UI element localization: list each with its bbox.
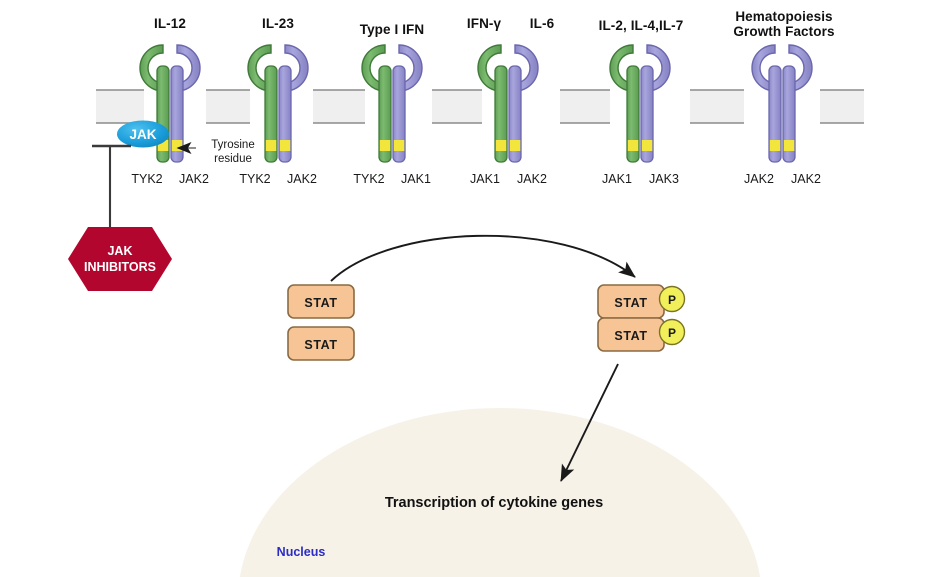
jak-inhibitors-label-line2: INHIBITORS xyxy=(84,260,156,274)
jak-inhibitors-node[interactable]: JAK INHIBITORS xyxy=(68,227,172,291)
stat-unphosphorylated-group: STAT STAT xyxy=(288,285,354,360)
tyrosine-residue xyxy=(172,140,183,151)
receptor-hematopoiesis-growth-factors xyxy=(752,45,812,162)
cytokine-label-hematopoiesis-line2: Growth Factors xyxy=(718,24,850,39)
jak-chain-label-type1ifn-right: JAK1 xyxy=(392,172,440,186)
jak-chain-label-hgf-right: JAK2 xyxy=(782,172,830,186)
membrane-segment xyxy=(690,90,744,123)
jak-inhibitors-label-line1: JAK xyxy=(107,244,132,258)
membrane-segment xyxy=(820,90,864,123)
cytokine-label-il12: IL-12 xyxy=(130,16,210,31)
tyrosine-residue xyxy=(770,140,781,151)
phosphate-label: P xyxy=(668,326,676,340)
stat-phosphorylated-group: STAT P STAT P xyxy=(598,285,685,351)
jak-inhibitors-hexagon[interactable] xyxy=(68,227,172,291)
jak-chain-label-il6-right: JAK2 xyxy=(508,172,556,186)
tyrosine-residue xyxy=(394,140,405,151)
stat-box-label: STAT xyxy=(304,296,337,310)
jak-chain-label-il23-left: TYK2 xyxy=(231,172,279,186)
stat-box-phosphorylated: STAT P xyxy=(598,318,685,351)
jak-inhibitor-connector xyxy=(92,146,131,227)
receptor-type1-ifn xyxy=(362,45,422,162)
nucleus-label: Nucleus xyxy=(277,545,326,559)
jak-chain-label-ifng-left: JAK1 xyxy=(461,172,509,186)
stat-box-label: STAT xyxy=(304,338,337,352)
cytokine-label-il2-il4-il7: IL-2, IL-4,IL-7 xyxy=(578,18,704,33)
receptor-ifng-il6 xyxy=(478,45,538,162)
tyrosine-residue xyxy=(510,140,521,151)
diagram-canvas: JAK JAK INHIBITORS STAT STAT xyxy=(0,0,940,577)
tyrosine-residue xyxy=(784,140,795,151)
membrane-segment xyxy=(96,90,144,123)
stat-box: STAT xyxy=(288,285,354,318)
tyrosine-residue xyxy=(496,140,507,151)
tyrosine-residue xyxy=(628,140,639,151)
jak-chain-label-type1ifn-left: TYK2 xyxy=(345,172,393,186)
tyrosine-residue xyxy=(642,140,653,151)
cell-membrane xyxy=(96,90,864,123)
cytokine-label-ifn-gamma: IFN-γ xyxy=(451,16,517,31)
tyrosine-residue xyxy=(266,140,277,151)
jak-chain-label-il12-right: JAK2 xyxy=(170,172,218,186)
jak-chain-label-il2-left: JAK1 xyxy=(593,172,641,186)
receptor-il2-il4-il7 xyxy=(610,45,670,162)
cytokine-label-il23: IL-23 xyxy=(238,16,318,31)
cytokine-label-il6: IL-6 xyxy=(513,16,571,31)
membrane-segment xyxy=(313,90,365,123)
stat-box: STAT xyxy=(288,327,354,360)
membrane-segment xyxy=(432,90,482,123)
tyrosine-residue xyxy=(280,140,291,151)
stat-box-label: STAT xyxy=(614,329,647,343)
jak-chain-label-hgf-left: JAK2 xyxy=(735,172,783,186)
jak-badge: JAK xyxy=(117,121,169,148)
transcription-label: Transcription of cytokine genes xyxy=(385,495,603,511)
membrane-segment xyxy=(206,90,250,123)
phosphate-label: P xyxy=(668,293,676,307)
jak-badge-label: JAK xyxy=(129,127,156,142)
cytokine-label-hematopoiesis-line1: Hematopoiesis xyxy=(718,9,850,24)
stat-box-phosphorylated: STAT P xyxy=(598,285,685,318)
jak-chain-label-il23-right: JAK2 xyxy=(278,172,326,186)
tyrosine-residue-label: Tyrosine residue xyxy=(199,138,267,167)
jak-stat-pathway-diagram: JAK JAK INHIBITORS STAT STAT xyxy=(0,0,940,577)
jak-chain-label-il12-left: TYK2 xyxy=(123,172,171,186)
tyrosine-residue xyxy=(380,140,391,151)
membrane-segment xyxy=(560,90,610,123)
jak-chain-label-il2-right: JAK3 xyxy=(640,172,688,186)
stat-box-label: STAT xyxy=(614,296,647,310)
stat-activation-arrow xyxy=(331,236,635,281)
cytokine-label-type1-ifn: Type I IFN xyxy=(340,22,444,37)
